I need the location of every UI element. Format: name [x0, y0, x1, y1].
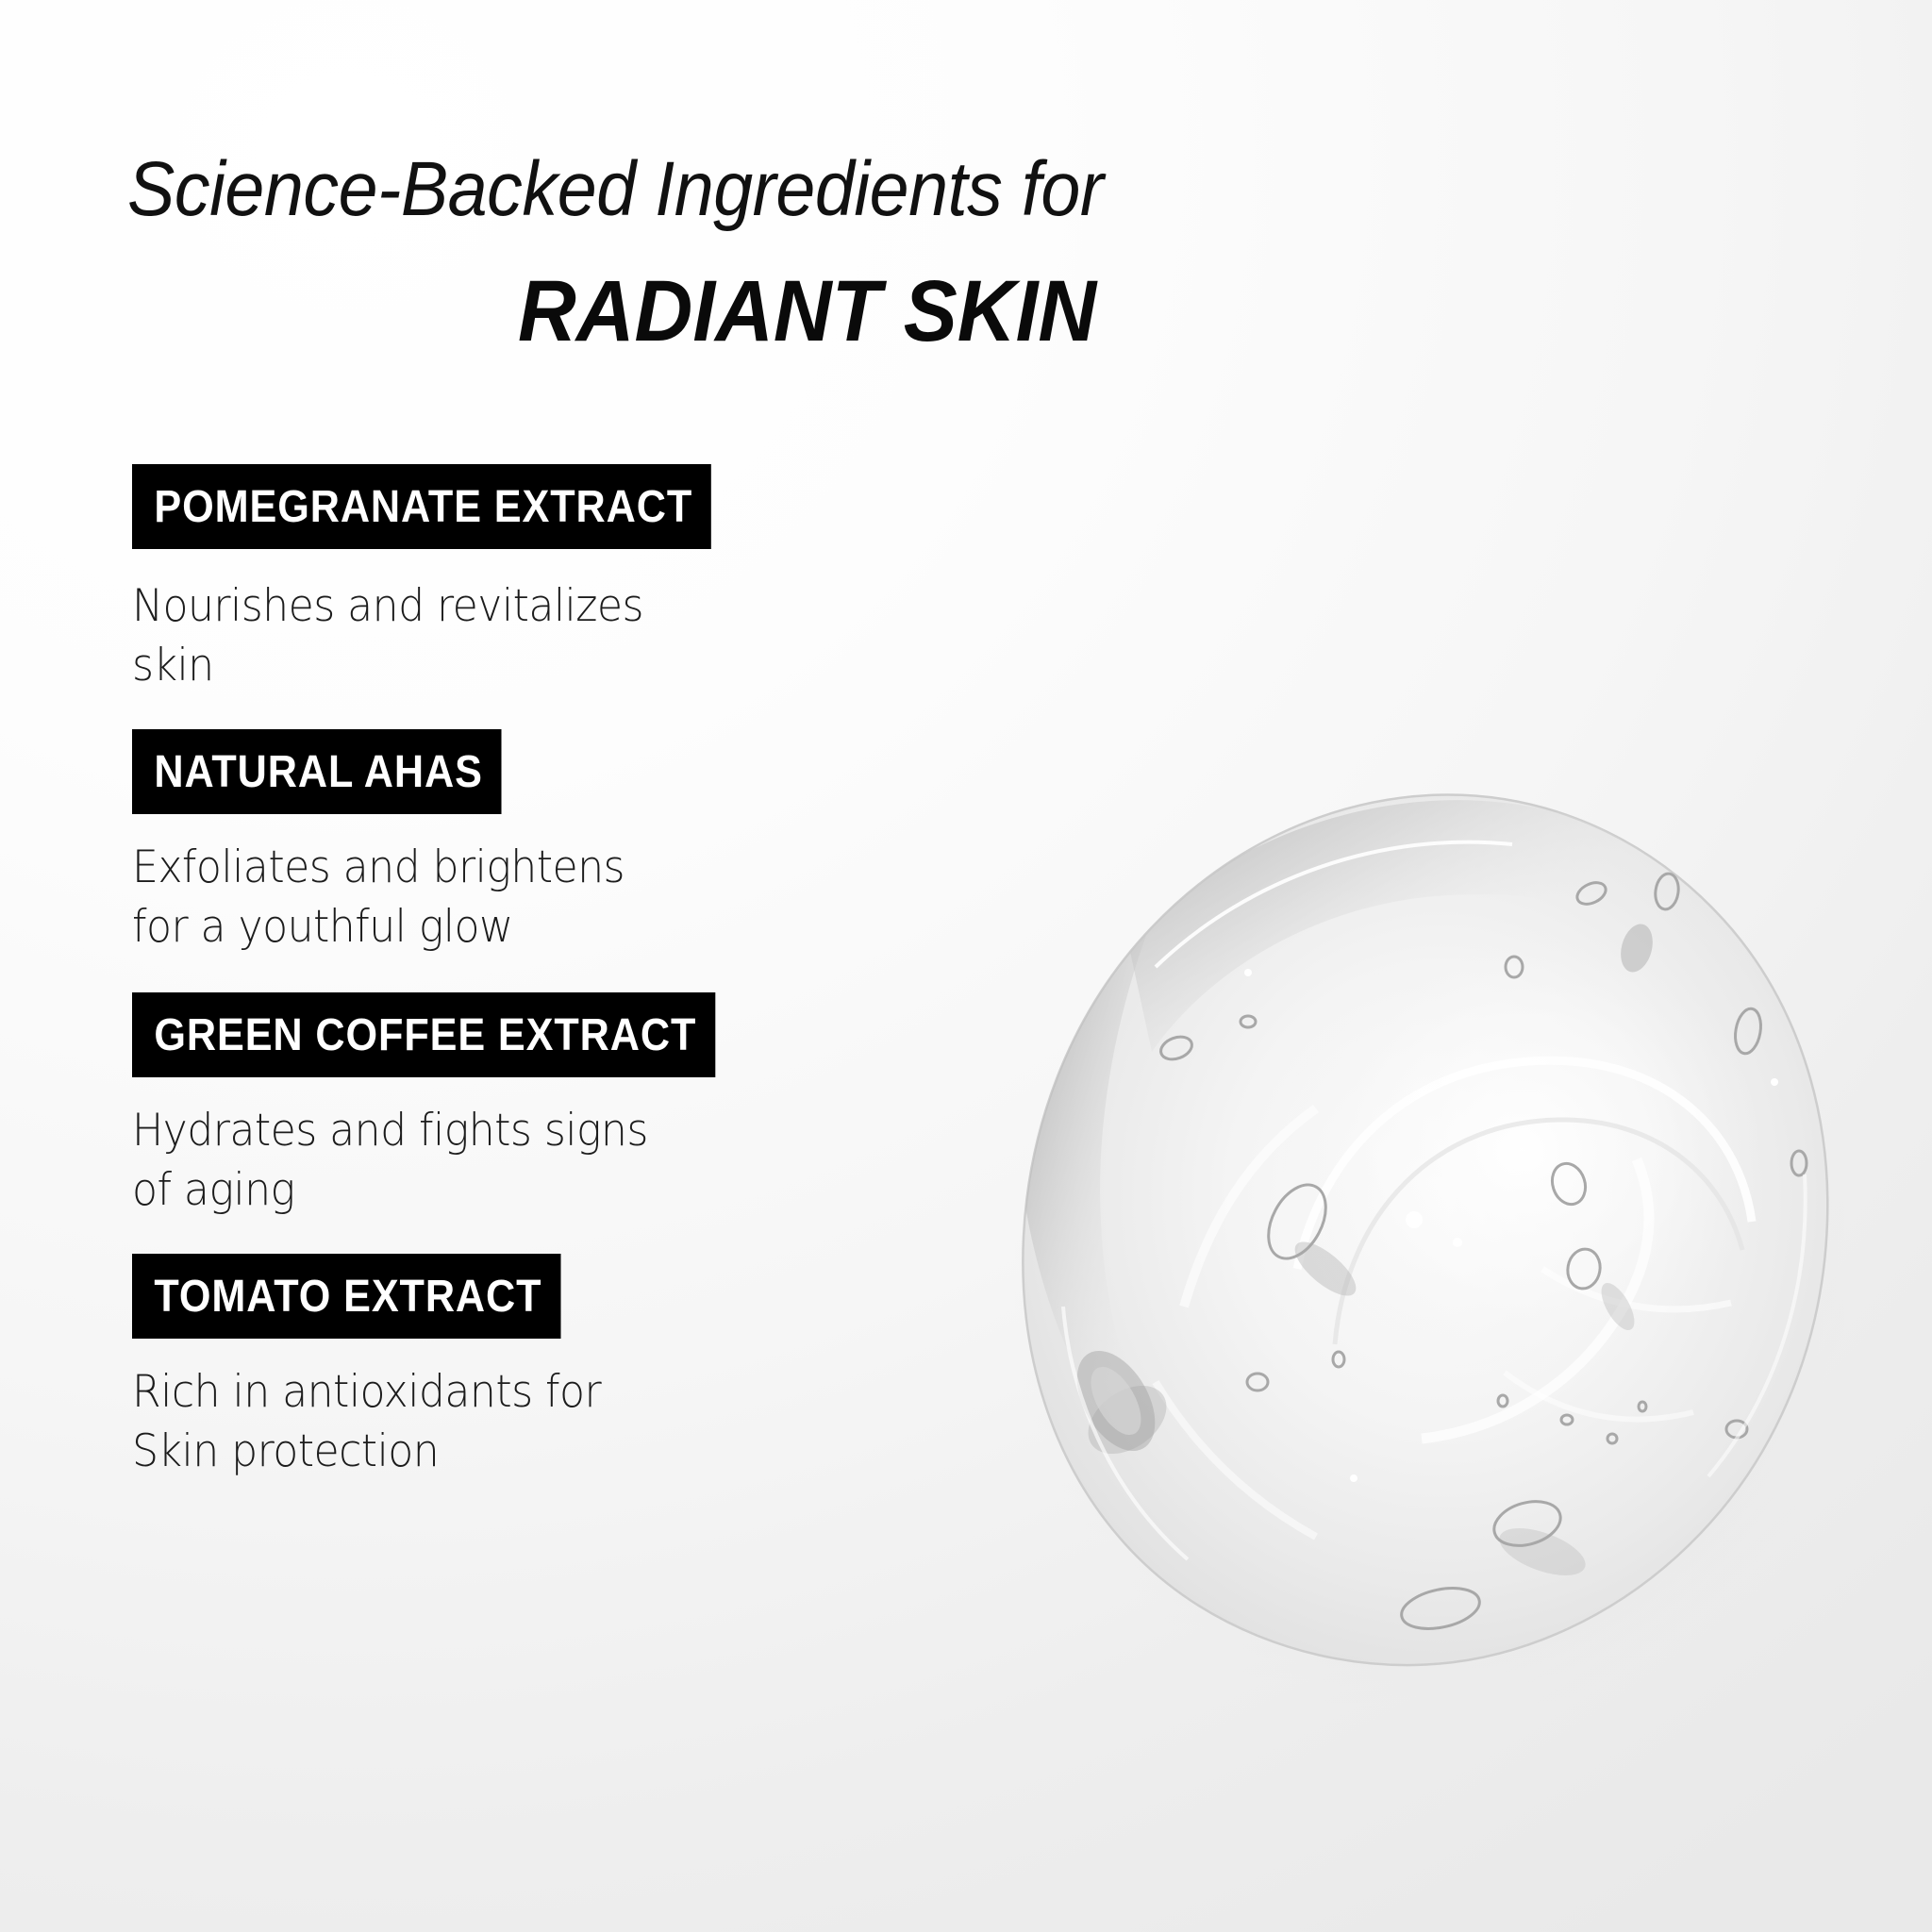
poster-canvas: Science-Backed Ingredients for RADIANT S… [0, 0, 1932, 1932]
ingredient-badge-green-coffee-extract: GREEN COFFEE EXTRACT [132, 992, 715, 1077]
ingredient-item: POMEGRANATE EXTRACT Nourishes and revita… [132, 464, 849, 695]
gel-swatch-illustration [1014, 778, 1844, 1703]
headline-line-1: Science-Backed Ingredients for [127, 151, 1620, 228]
ingredient-badge-pomegranate-extract: POMEGRANATE EXTRACT [132, 464, 711, 549]
ingredient-item: NATURAL AHAS Exfoliates and brightens fo… [132, 729, 849, 957]
ingredient-description-natural-ahas: Exfoliates and brightens for a youthful … [132, 839, 753, 957]
ingredient-description-green-coffee-extract: Hydrates and fights signs of aging [132, 1102, 753, 1220]
gel-core-highlight [1184, 901, 1788, 1467]
ingredient-item: TOMATO EXTRACT Rich in antioxidants for … [132, 1254, 849, 1481]
headline-block: Science-Backed Ingredients for RADIANT S… [127, 151, 1750, 355]
gel-swatch-image [1014, 778, 1844, 1703]
ingredient-item: GREEN COFFEE EXTRACT Hydrates and fights… [132, 992, 849, 1220]
ingredient-description-tomato-extract: Rich in antioxidants for Skin protection [132, 1363, 753, 1481]
ingredient-badge-tomato-extract: TOMATO EXTRACT [132, 1254, 560, 1339]
ingredient-list: POMEGRANATE EXTRACT Nourishes and revita… [132, 464, 849, 1481]
headline-line-2: RADIANT SKIN [241, 268, 1750, 355]
ingredient-badge-natural-ahas: NATURAL AHAS [132, 729, 502, 814]
ingredient-description-pomegranate-extract: Nourishes and revitalizes skin [132, 577, 753, 695]
